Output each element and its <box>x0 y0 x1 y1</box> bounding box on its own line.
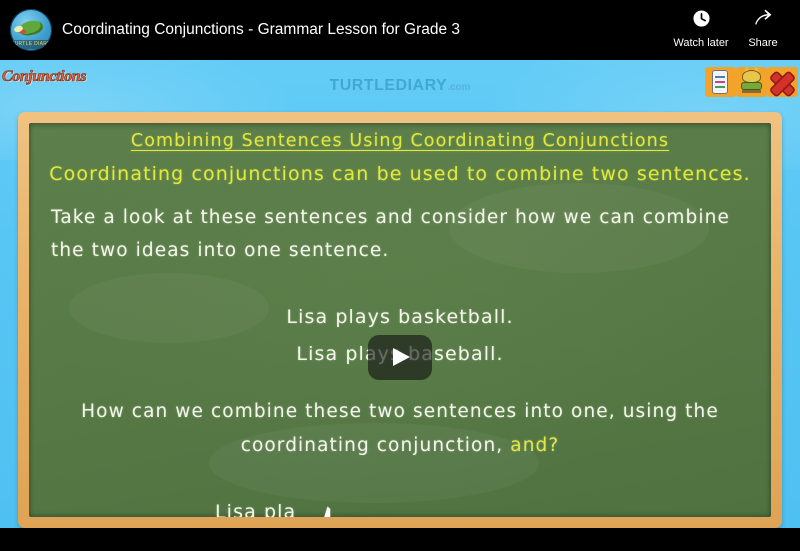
youtube-top-bar: TURTLE DIARY Coordinating Conjunctions -… <box>0 0 800 60</box>
video-player-screenshot: TURTLE DIARY Coordinating Conjunctions -… <box>0 0 800 551</box>
share-label: Share <box>728 37 798 49</box>
watch-later-button[interactable]: Watch later <box>666 8 736 49</box>
close-icon[interactable] <box>767 66 798 98</box>
mascot-icon[interactable] <box>736 66 767 98</box>
video-title[interactable]: Coordinating Conjunctions - Grammar Less… <box>62 0 460 60</box>
question-line-1: How can we combine these two sentences i… <box>29 403 771 422</box>
play-triangle-icon <box>393 348 410 366</box>
chalkboard-body-line-1: Take a look at these sentences and consi… <box>51 209 730 228</box>
chalkboard-frame: Combining Sentences Using Coordinating C… <box>18 112 782 528</box>
mascot-body <box>741 82 762 90</box>
lesson-toolbar <box>705 65 798 99</box>
worksheet-line <box>715 76 725 78</box>
question-line-2: coordinating conjunction, and? <box>29 437 771 456</box>
avatar-label: TURTLE DIARY <box>10 40 52 49</box>
play-button[interactable] <box>368 335 432 380</box>
conjunction-highlight: and? <box>510 435 559 456</box>
chalk-smudge <box>449 183 709 273</box>
video-frame[interactable]: Conjunctions TURTLEDIARY.com <box>0 60 800 528</box>
turtle-logo-icon[interactable]: TURTLE DIARY <box>10 9 52 51</box>
watermark-tld: .com <box>447 82 470 93</box>
clock-icon <box>666 8 736 32</box>
share-arrow-icon <box>728 8 798 32</box>
answer-in-progress: Lisa pla <box>215 503 296 517</box>
mascot-stand <box>742 90 761 93</box>
watch-later-label: Watch later <box>666 37 736 49</box>
chalkboard-intro: Coordinating conjunctions can be used to… <box>29 165 771 184</box>
chalkboard-body-line-2: the two ideas into one sentence. <box>51 242 389 261</box>
worksheet-line <box>715 86 725 88</box>
chalkboard-surface: Combining Sentences Using Coordinating C… <box>29 123 771 517</box>
turtlediary-watermark: TURTLEDIARY.com <box>0 77 800 95</box>
worksheet-line <box>715 81 725 83</box>
worksheet-icon[interactable] <box>705 66 736 98</box>
example-sentence-1: Lisa plays basketball. <box>29 308 771 327</box>
chalkboard-title: Combining Sentences Using Coordinating C… <box>29 133 771 151</box>
question-line-2-prefix: coordinating conjunction, <box>241 435 511 456</box>
player-bottom-bar <box>0 528 800 551</box>
lesson-topic-label: Conjunctions <box>2 68 86 86</box>
share-button[interactable]: Share <box>728 8 798 49</box>
chalk-piece-icon <box>311 505 338 517</box>
watermark-brand: TURTLEDIARY <box>329 77 447 94</box>
